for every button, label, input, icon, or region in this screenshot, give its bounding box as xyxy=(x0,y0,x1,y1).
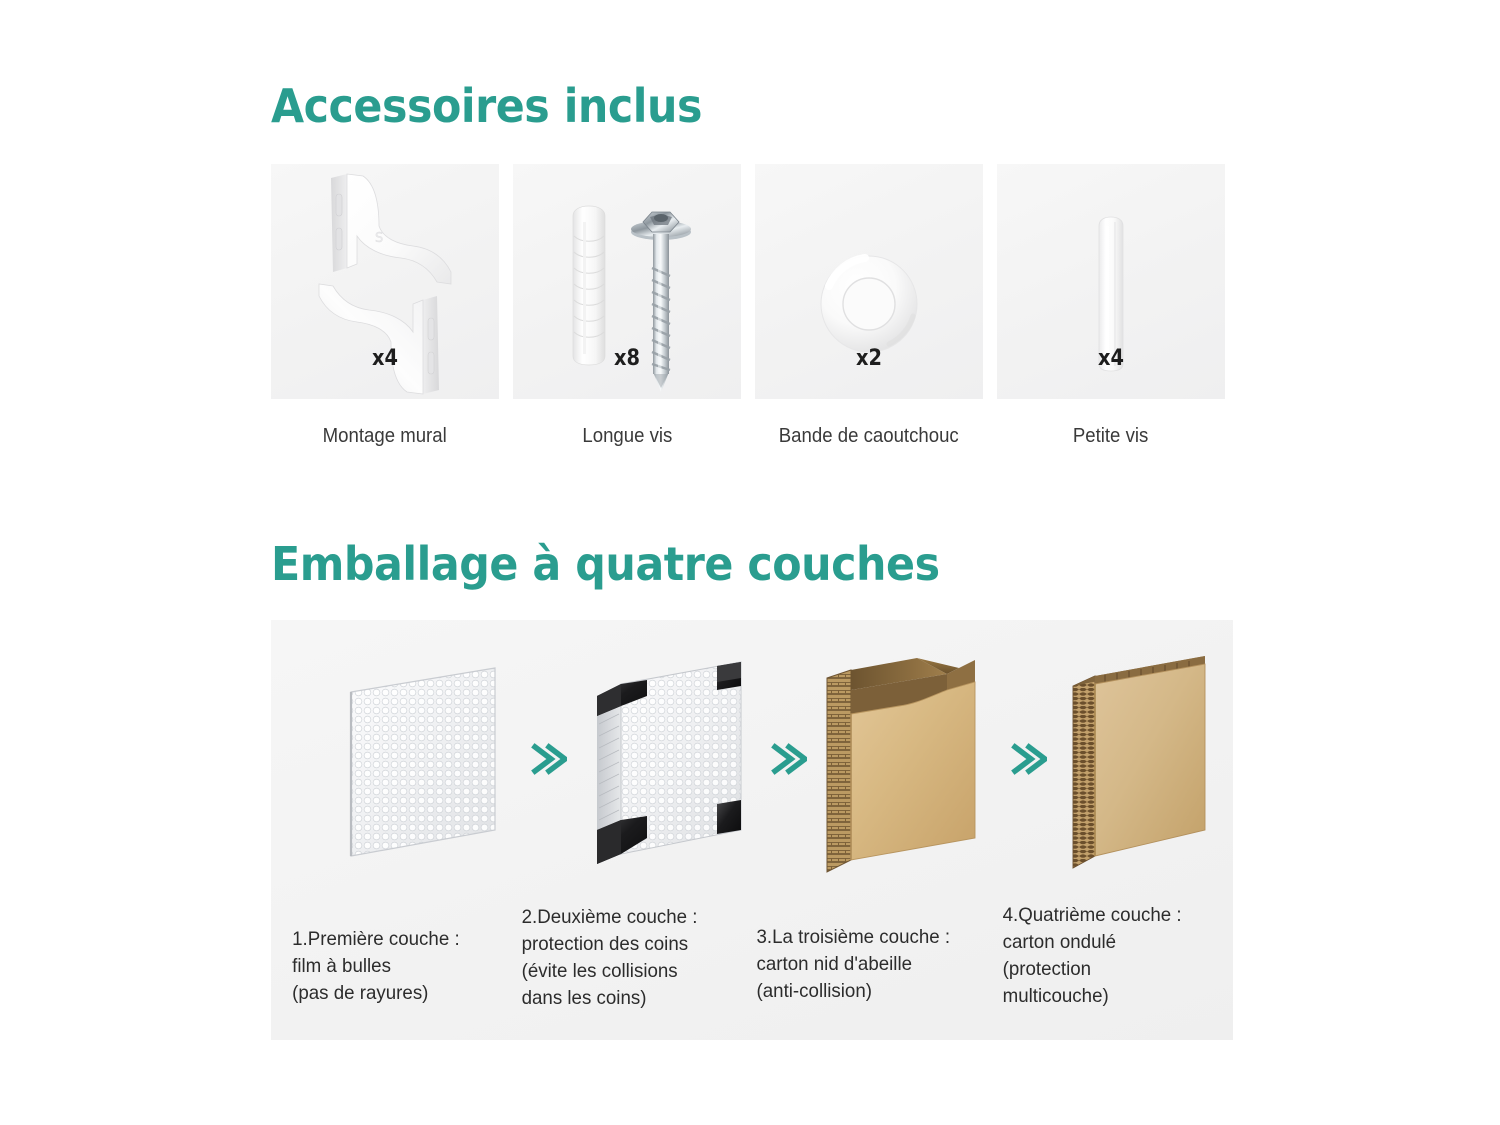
double-chevron-right-icon xyxy=(1007,634,1047,884)
double-chevron-right-icon xyxy=(767,634,807,884)
accessory-item: S x4 Montage mural xyxy=(271,164,499,448)
honeycomb-cardboard-image xyxy=(807,634,1007,884)
accessories-grid: S x4 Montage mural xyxy=(271,164,1231,448)
packaging-stage-row xyxy=(271,634,1233,884)
packaging-section: 1.Première couche : film à bulles (pas d… xyxy=(271,620,1233,1040)
corner-protector-panel-image xyxy=(567,634,767,884)
packaging-layer-caption: 2.Deuxième couche : protection des coins… xyxy=(512,902,735,1012)
accessory-image-panel: x8 xyxy=(513,164,741,399)
accessory-image-panel: x4 xyxy=(997,164,1225,399)
accessory-quantity: x4 xyxy=(1011,346,1212,371)
accessory-caption: Bande de caoutchouc xyxy=(779,425,959,448)
double-chevron-right-icon xyxy=(527,634,567,884)
accessory-caption: Petite vis xyxy=(1073,425,1148,448)
svg-text:S: S xyxy=(375,231,383,246)
bubble-wrap-sheet-image xyxy=(327,634,527,884)
accessory-caption: Montage mural xyxy=(323,425,447,448)
accessories-heading: Accessoires inclus xyxy=(271,78,702,134)
accessory-quantity: x2 xyxy=(769,346,970,371)
packaging-layer-caption: 3.La troisième couche : carton nid d'abe… xyxy=(745,902,983,1012)
accessory-item: x2 Bande de caoutchouc xyxy=(755,164,983,448)
packaging-layer-caption: 4.Quatrième couche : carton ondulé (prot… xyxy=(993,902,1224,1012)
product-infographic-page: Accessoires inclus xyxy=(0,0,1500,1125)
accessory-image-panel: x2 xyxy=(755,164,983,399)
accessory-quantity: x8 xyxy=(527,346,728,371)
accessory-item: x4 Petite vis xyxy=(997,164,1225,448)
accessory-quantity: x4 xyxy=(285,346,486,371)
packaging-heading: Emballage à quatre couches xyxy=(271,536,940,592)
accessory-item: x8 Longue vis xyxy=(513,164,741,448)
accessory-caption: Longue vis xyxy=(582,425,672,448)
accessory-image-panel: S x4 xyxy=(271,164,499,399)
packaging-layer-caption: 1.Première couche : film à bulles (pas d… xyxy=(271,902,502,1012)
packaging-caption-row: 1.Première couche : film à bulles (pas d… xyxy=(271,902,1233,1012)
corrugated-cardboard-image xyxy=(1047,634,1247,884)
